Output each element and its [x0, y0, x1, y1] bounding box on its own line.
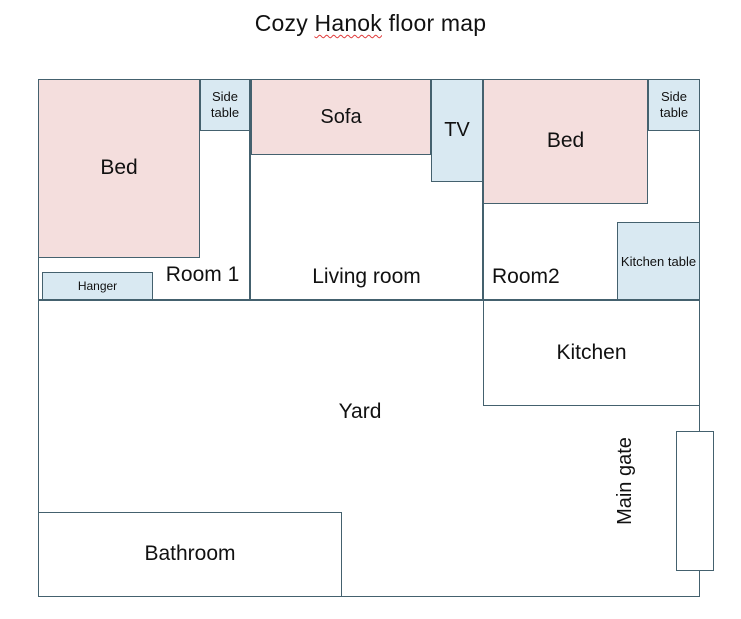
room-kitchen[interactable] [483, 300, 700, 406]
title-suffix: floor map [382, 10, 486, 36]
room-main-gate[interactable] [676, 431, 714, 571]
wall-top-outer [38, 79, 700, 80]
furniture-side-table1[interactable] [200, 79, 250, 131]
wall-rooms-yard [38, 300, 700, 301]
page-title: Cozy Hanok floor map [0, 10, 741, 37]
furniture-bed2[interactable] [483, 79, 648, 204]
furniture-kitchen-table[interactable] [617, 222, 700, 300]
wall-right-upper [699, 79, 700, 431]
furniture-sofa[interactable] [251, 79, 431, 155]
wall-left-outer [38, 79, 39, 597]
floor-map-canvas: Cozy Hanok floor map Bed Side table [0, 0, 741, 619]
furniture-side-table2[interactable] [648, 79, 700, 131]
room-bathroom[interactable] [38, 512, 342, 597]
wall-room1-living [250, 79, 251, 300]
furniture-bed1[interactable] [38, 79, 200, 258]
wall-living-room2 [483, 79, 484, 300]
title-prefix: Cozy [255, 10, 315, 36]
furniture-hanger[interactable] [42, 272, 153, 300]
furniture-tv[interactable] [431, 79, 483, 182]
wall-bottom-outer [38, 596, 700, 597]
title-misspelled-word: Hanok [315, 10, 382, 36]
wall-right-lower [699, 571, 700, 597]
